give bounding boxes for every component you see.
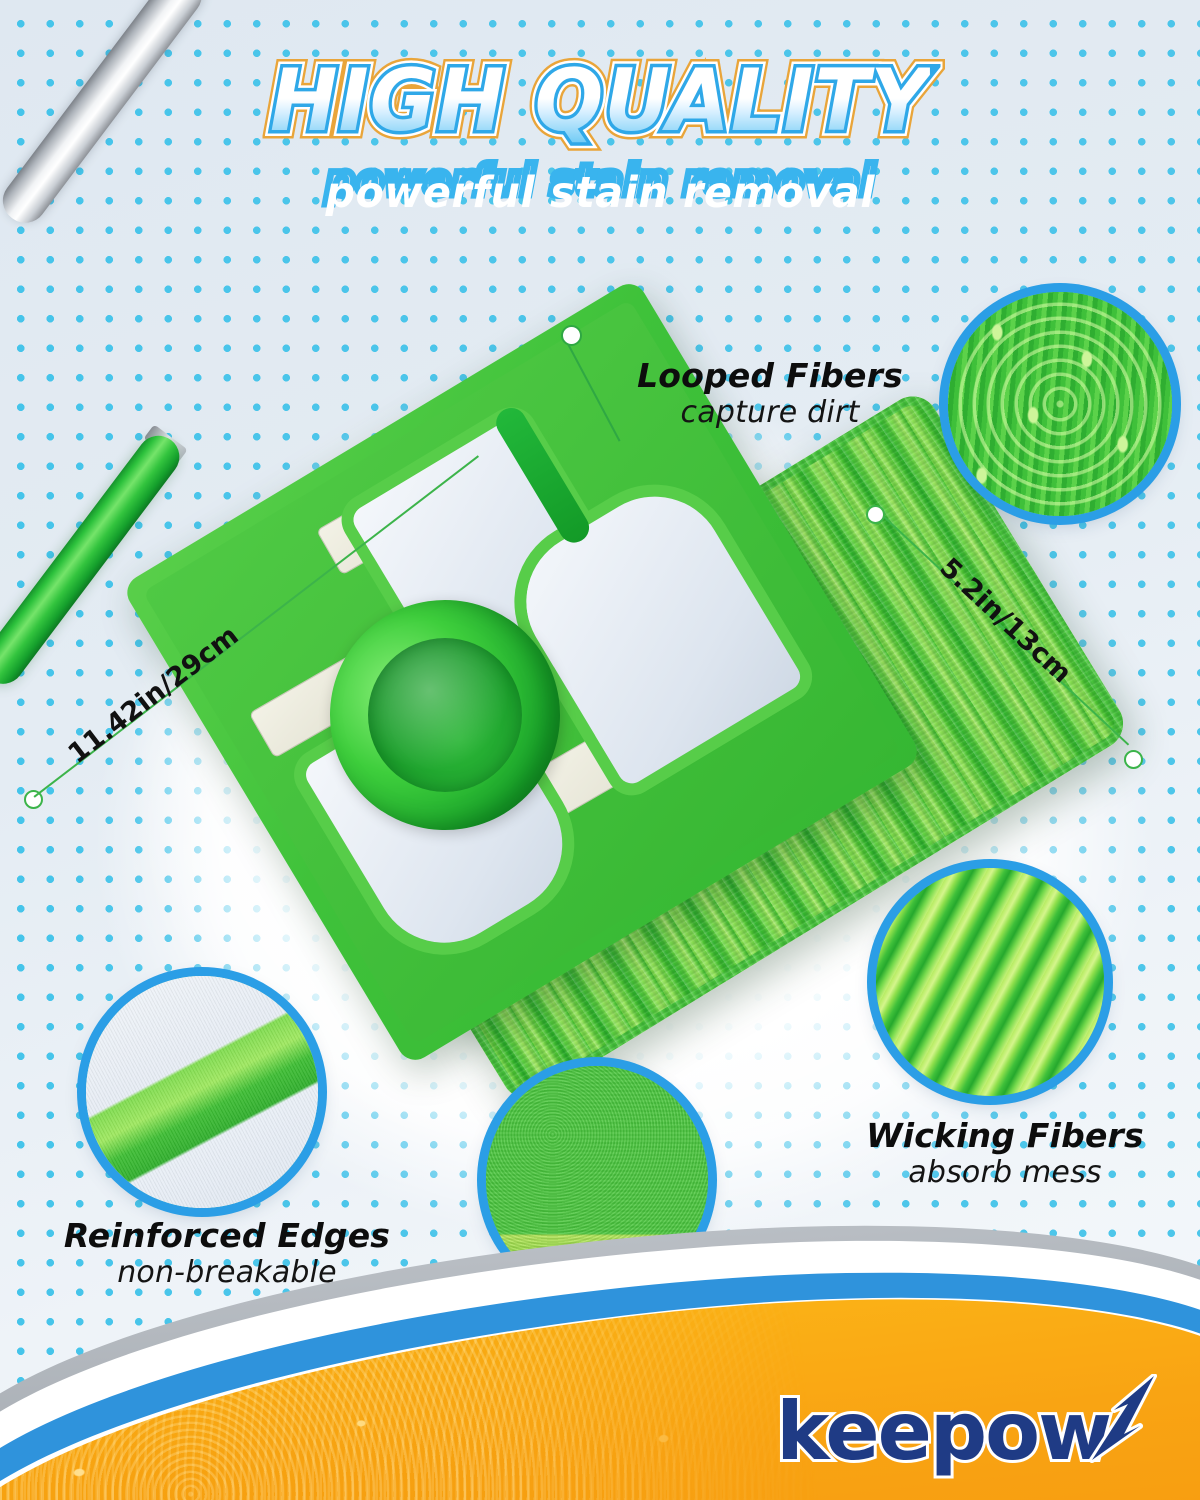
feature-title-reinforced-edges: Reinforced Edges: [42, 1218, 412, 1255]
headline-block: HIGH QUALITY HIGH QUALITY HIGH QUALITY H…: [0, 58, 1200, 218]
infographic-canvas: HIGH QUALITY HIGH QUALITY HIGH QUALITY H…: [0, 0, 1200, 1500]
callout-looped-fibers: [948, 292, 1172, 516]
feature-label-wicking-fibers: Wicking Fibers absorb mess: [840, 1118, 1170, 1190]
callout-looped-fibers-texture: [948, 292, 1172, 516]
feature-subtitle-looped-fibers: capture dirt: [620, 395, 920, 430]
mop-swivel-ring: [368, 638, 522, 792]
callout-wicking-fibers-texture: [876, 868, 1104, 1096]
feature-label-looped-fibers: Looped Fibers capture dirt: [620, 358, 920, 430]
headline-subtitle-stack: powerful stain removal powerful stain re…: [314, 156, 886, 218]
feature-subtitle-wicking-fibers: absorb mess: [840, 1155, 1170, 1190]
callout-wicking-fibers: [876, 868, 1104, 1096]
brand-logo-wordmark: keepow: [776, 1392, 1110, 1472]
leader-looped-fibers-endpoint: [561, 325, 582, 346]
callout-reinforced-edges: [86, 976, 318, 1208]
headline-title-stack: HIGH QUALITY HIGH QUALITY HIGH QUALITY H…: [249, 58, 951, 146]
callout-reinforced-edges-weave: [86, 976, 318, 1208]
brand-logo: keepow: [776, 1374, 1162, 1472]
headline-title: HIGH QUALITY: [270, 58, 930, 146]
feature-title-looped-fibers: Looped Fibers: [620, 358, 920, 395]
callout-reinforced-edges-texture: [86, 976, 318, 1208]
dimension-width-endpoint-end: [1124, 750, 1143, 769]
lightning-bolt-icon: [1084, 1374, 1162, 1466]
feature-title-wicking-fibers: Wicking Fibers: [840, 1118, 1170, 1155]
headline-subtitle: powerful stain removal: [325, 168, 875, 218]
